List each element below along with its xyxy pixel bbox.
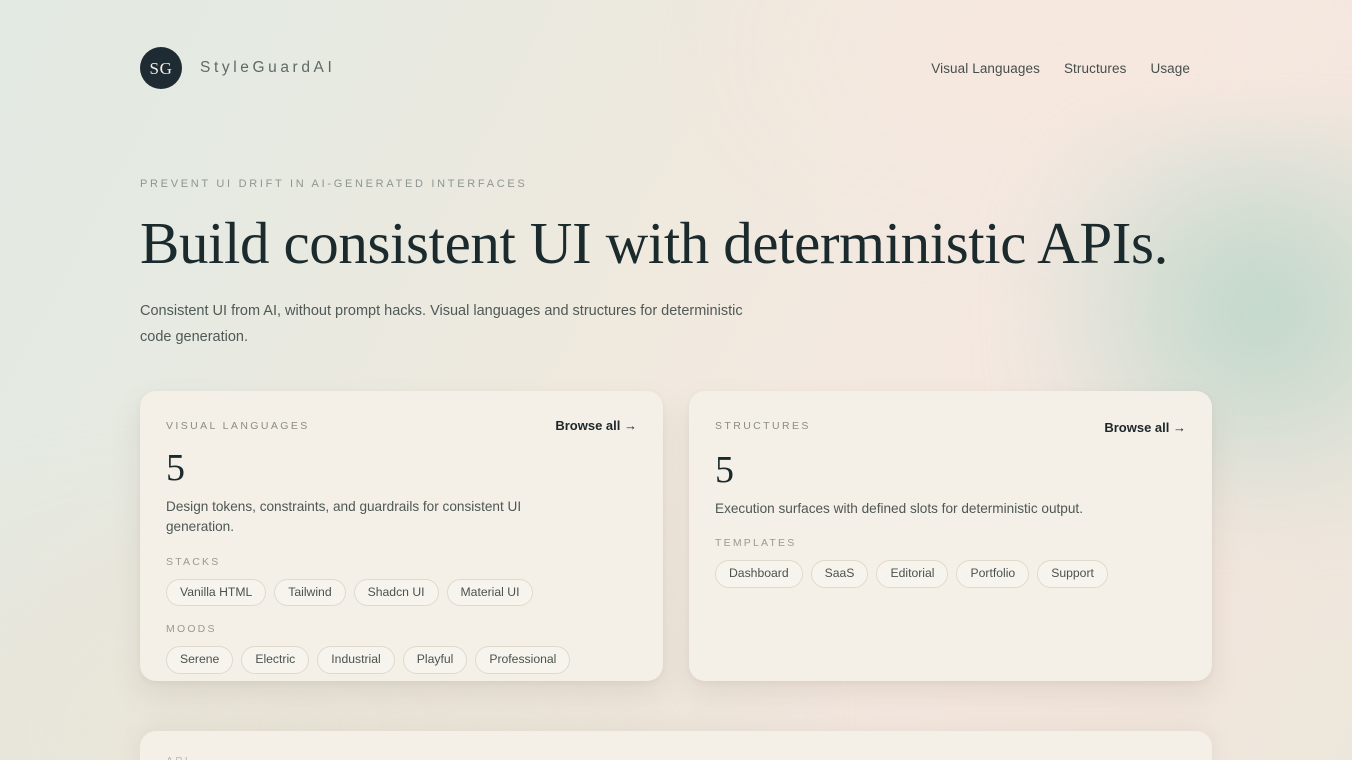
card-kicker: API — [166, 753, 1186, 760]
chip-item[interactable]: Editorial — [876, 560, 948, 588]
card-visual-languages: VISUAL LANGUAGES Browse all → 5 Design t… — [140, 391, 663, 681]
page-title: Build consistent UI with deterministic A… — [140, 212, 1220, 275]
browse-all-link[interactable]: Browse all → — [1104, 418, 1186, 435]
nav-item-structures[interactable]: Structures — [1064, 61, 1127, 76]
card-count: 5 — [166, 449, 637, 487]
page-root: SG StyleGuardAI Visual Languages Structu… — [0, 0, 1352, 760]
nav-item-visual-languages[interactable]: Visual Languages — [931, 61, 1040, 76]
browse-all-link[interactable]: Browse all → — [555, 418, 637, 433]
card-structures: STRUCTURES Browse all → 5 Execution surf… — [689, 391, 1212, 681]
hero-subtitle: Consistent UI from AI, without prompt ha… — [140, 299, 765, 351]
monogram-icon: SG — [140, 47, 182, 89]
card-header: STRUCTURES Browse all → — [715, 418, 1186, 435]
main-nav: Visual Languages Structures Usage — [931, 61, 1190, 76]
card-kicker: VISUAL LANGUAGES — [166, 418, 310, 432]
group-label-stacks: STACKS — [166, 556, 637, 568]
chip-item[interactable]: Industrial — [317, 646, 394, 674]
chip-item[interactable]: Vanilla HTML — [166, 579, 266, 607]
card-description: Execution surfaces with defined slots fo… — [715, 499, 1115, 519]
site-header: SG StyleGuardAI Visual Languages Structu… — [0, 0, 1352, 136]
chip-item[interactable]: Support — [1037, 560, 1108, 588]
chip-item[interactable]: Electric — [241, 646, 309, 674]
chip-item[interactable]: Portfolio — [956, 560, 1029, 588]
hero-eyebrow: PREVENT UI DRIFT IN AI-GENERATED INTERFA… — [140, 178, 1220, 190]
card-api: API — [140, 731, 1212, 760]
card-header: VISUAL LANGUAGES Browse all → — [166, 418, 637, 433]
card-count: 5 — [715, 451, 1186, 489]
brand-name: StyleGuardAI — [200, 59, 335, 77]
chip-row-moods: Serene Electric Industrial Playful Profe… — [166, 646, 637, 674]
chip-item[interactable]: Material UI — [447, 579, 534, 607]
chip-item[interactable]: Tailwind — [274, 579, 345, 607]
brand-logo[interactable]: SG StyleGuardAI — [140, 47, 335, 89]
chip-row-templates: Dashboard SaaS Editorial Portfolio Suppo… — [715, 560, 1186, 588]
chip-row-stacks: Vanilla HTML Tailwind Shadcn UI Material… — [166, 579, 637, 607]
feature-cards: VISUAL LANGUAGES Browse all → 5 Design t… — [140, 391, 1212, 681]
chip-item[interactable]: Dashboard — [715, 560, 803, 588]
group-label-templates: TEMPLATES — [715, 537, 1186, 549]
nav-item-usage[interactable]: Usage — [1150, 61, 1190, 76]
card-kicker: STRUCTURES — [715, 418, 811, 432]
card-description: Design tokens, constraints, and guardrai… — [166, 497, 566, 538]
chip-item[interactable]: Professional — [475, 646, 570, 674]
chip-item[interactable]: Playful — [403, 646, 468, 674]
chip-item[interactable]: SaaS — [811, 560, 869, 588]
chip-item[interactable]: Serene — [166, 646, 233, 674]
chip-item[interactable]: Shadcn UI — [354, 579, 439, 607]
group-label-moods: MOODS — [166, 623, 637, 635]
hero-section: PREVENT UI DRIFT IN AI-GENERATED INTERFA… — [140, 178, 1220, 351]
